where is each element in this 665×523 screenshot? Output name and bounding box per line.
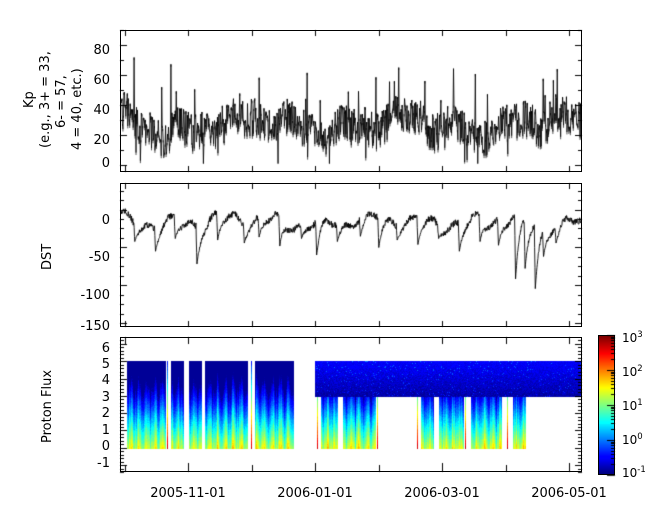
colorbar-exp-4: -1 bbox=[637, 465, 645, 475]
kp-ytick-20: 20 bbox=[60, 133, 110, 148]
flux-ytick-1: 1 bbox=[70, 423, 110, 438]
colorbar-exp-3: 0 bbox=[637, 432, 642, 442]
flux-ytick-0: 0 bbox=[70, 439, 110, 454]
space-weather-figure: Kp (e.g., 3+ = 33, 6- = 57, 4 = 40, etc.… bbox=[0, 0, 665, 523]
kp-axis-label-line1: Kp bbox=[22, 91, 37, 108]
colorbar-base-3: 10 bbox=[622, 433, 637, 447]
flux-ytick-6: 6 bbox=[70, 341, 110, 356]
kp-ytick-0: 0 bbox=[60, 156, 110, 171]
colorbar-base-2: 10 bbox=[622, 399, 637, 413]
dst-ytick-m100: -100 bbox=[55, 288, 110, 303]
xtick-2006-03-01: 2006-03-01 bbox=[391, 486, 493, 501]
dst-series-canvas bbox=[121, 184, 581, 326]
colorbar-tick-1e1: 101 bbox=[622, 398, 643, 413]
flux-ytick-2: 2 bbox=[70, 406, 110, 421]
kp-ytick-60: 60 bbox=[60, 73, 110, 88]
flux-ytick-3: 3 bbox=[70, 390, 110, 405]
dst-ytick-0: 0 bbox=[55, 213, 110, 228]
colorbar-tick-1e3: 103 bbox=[622, 330, 643, 345]
colorbar-base-0: 10 bbox=[622, 331, 637, 345]
colorbar-exp-2: 1 bbox=[637, 398, 642, 408]
colorbar-gradient bbox=[599, 336, 614, 474]
colorbar-exp-1: 2 bbox=[637, 364, 642, 374]
kp-axis-label-line2: (e.g., 3+ = 33, bbox=[38, 51, 53, 148]
colorbar-tick-1e2: 102 bbox=[622, 364, 643, 379]
flux-ytick-m1: -1 bbox=[66, 456, 110, 471]
colorbar-exp-0: 3 bbox=[637, 330, 642, 340]
flux-ytick-4: 4 bbox=[70, 373, 110, 388]
xtick-2006-05-01: 2006-05-01 bbox=[518, 486, 620, 501]
colorbar-tick-1em1: 10-1 bbox=[622, 465, 646, 480]
colorbar-base-4: 10 bbox=[622, 466, 637, 480]
proton-flux-axis-label: Proton Flux bbox=[40, 370, 55, 443]
kp-ytick-80: 80 bbox=[60, 43, 110, 58]
dst-axis-label: DST bbox=[40, 244, 55, 270]
flux-ytick-5: 5 bbox=[70, 357, 110, 372]
colorbar-tick-1e0: 100 bbox=[622, 432, 643, 447]
kp-ytick-40: 40 bbox=[60, 103, 110, 118]
kp-series-canvas bbox=[121, 31, 581, 171]
proton-flux-heatmap-canvas bbox=[121, 338, 581, 471]
dst-ytick-m150: -150 bbox=[55, 319, 110, 334]
xtick-2005-11-01: 2005-11-01 bbox=[137, 486, 239, 501]
xtick-2006-01-01: 2006-01-01 bbox=[264, 486, 366, 501]
colorbar-base-1: 10 bbox=[622, 365, 637, 379]
dst-ytick-m50: -50 bbox=[55, 250, 110, 265]
